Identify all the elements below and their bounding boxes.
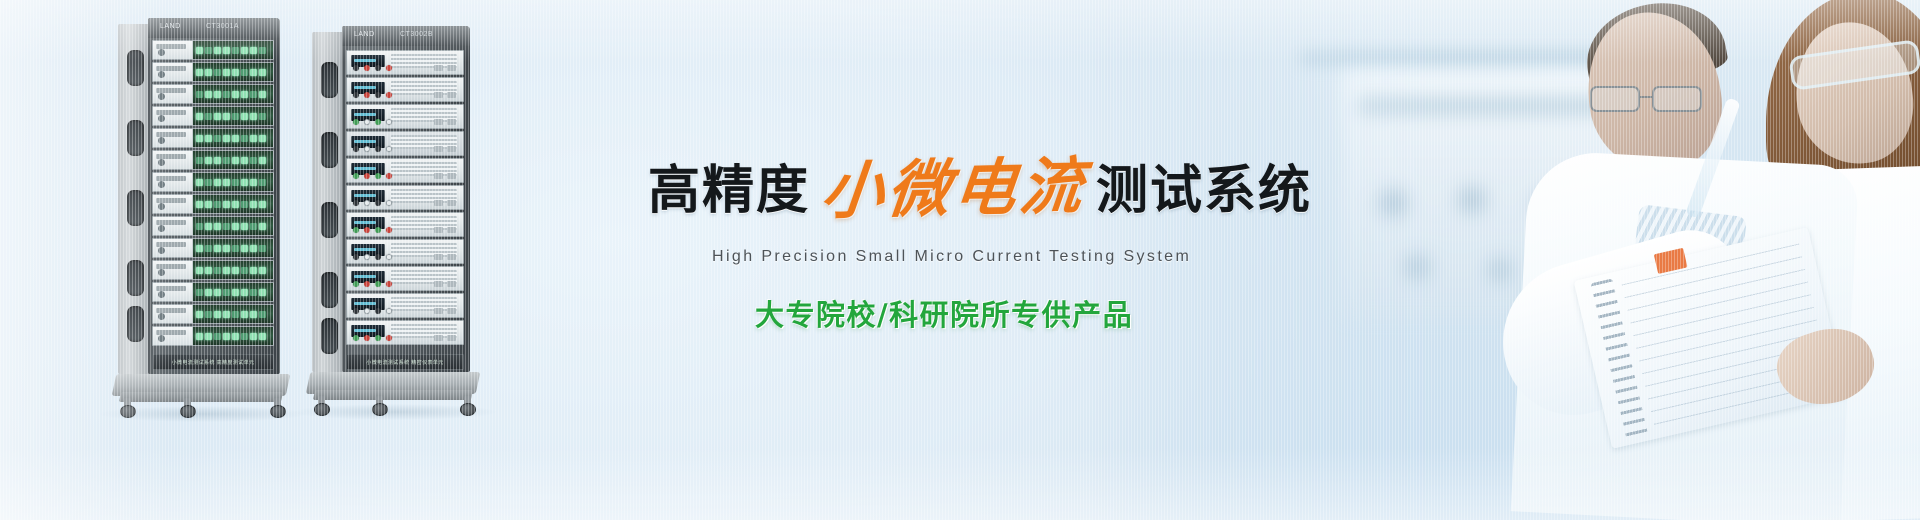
product-banner: LAND CT3001A 小微电流测试系统 高精度测试单元: [0, 0, 1920, 520]
banner-tagline: 大专院校/科研院所专供产品: [755, 292, 1133, 334]
headline-part-1: 高精度: [648, 165, 810, 217]
headline-part-3: 测试系统: [1096, 165, 1312, 217]
banner-copy: 高精度 小微电流 测试系统 High Precision Small Micro…: [0, 0, 1100, 520]
banner-headline: 高精度 小微电流 测试系统: [648, 160, 1312, 217]
male-researcher: [1510, 0, 1830, 520]
eyeglasses-icon: [1590, 86, 1714, 112]
banner-subtitle: High Precision Small Micro Current Testi…: [712, 248, 1191, 266]
lab-photograph: [1090, 0, 1920, 520]
headline-accent: 小微电流: [819, 157, 1089, 220]
